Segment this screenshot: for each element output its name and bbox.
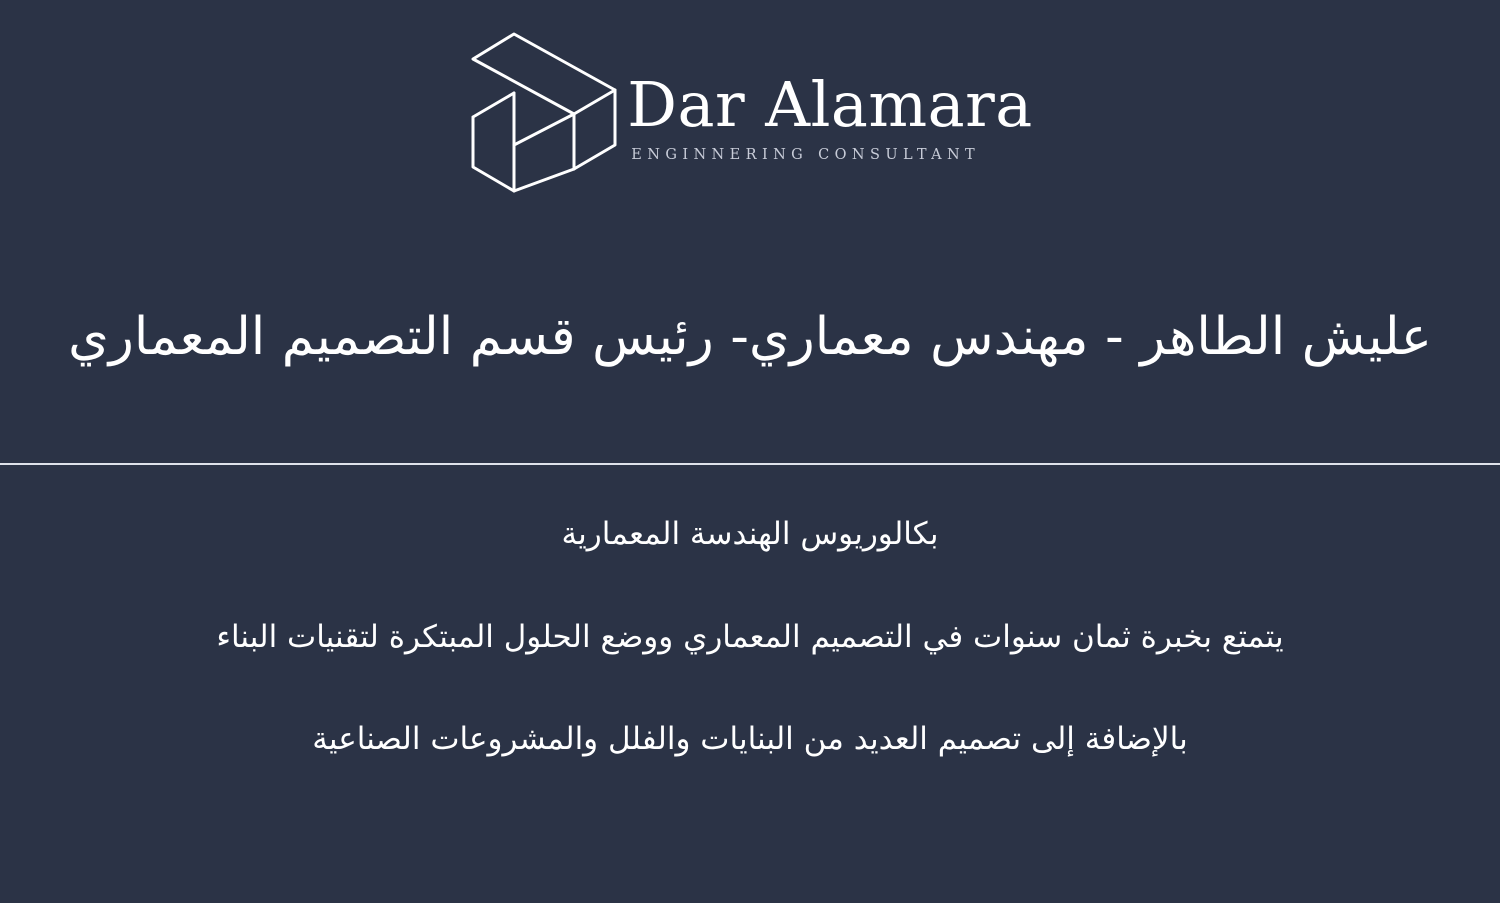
body-line-projects: بالإضافة إلى تصميم العديد من البنايات وا… (312, 716, 1187, 763)
brand-name: Dar Alamara (627, 74, 1032, 136)
profile-card: Dar Alamara ENGINNERING CONSULTANT عليش … (0, 0, 1500, 903)
logo-band: Dar Alamara ENGINNERING CONSULTANT (0, 0, 1500, 230)
logo-lockup: Dar Alamara ENGINNERING CONSULTANT (467, 30, 1032, 195)
dar-alamara-isometric-mark-icon (467, 30, 619, 195)
body-line-experience: يتمتع بخبرة ثمان سنوات في التصميم المعما… (216, 614, 1283, 661)
brand-tagline: ENGINNERING CONSULTANT (631, 148, 980, 163)
logo-wordmark-group: Dar Alamara ENGINNERING CONSULTANT (627, 30, 1032, 163)
person-heading: عليش الطاهر - مهندس معماري- رئيس قسم الت… (68, 302, 1432, 372)
heading-band: عليش الطاهر - مهندس معماري- رئيس قسم الت… (0, 230, 1500, 463)
body-band: بكالوريوس الهندسة المعمارية يتمتع بخبرة … (0, 465, 1500, 903)
body-line-qualification: بكالوريوس الهندسة المعمارية (562, 511, 939, 558)
